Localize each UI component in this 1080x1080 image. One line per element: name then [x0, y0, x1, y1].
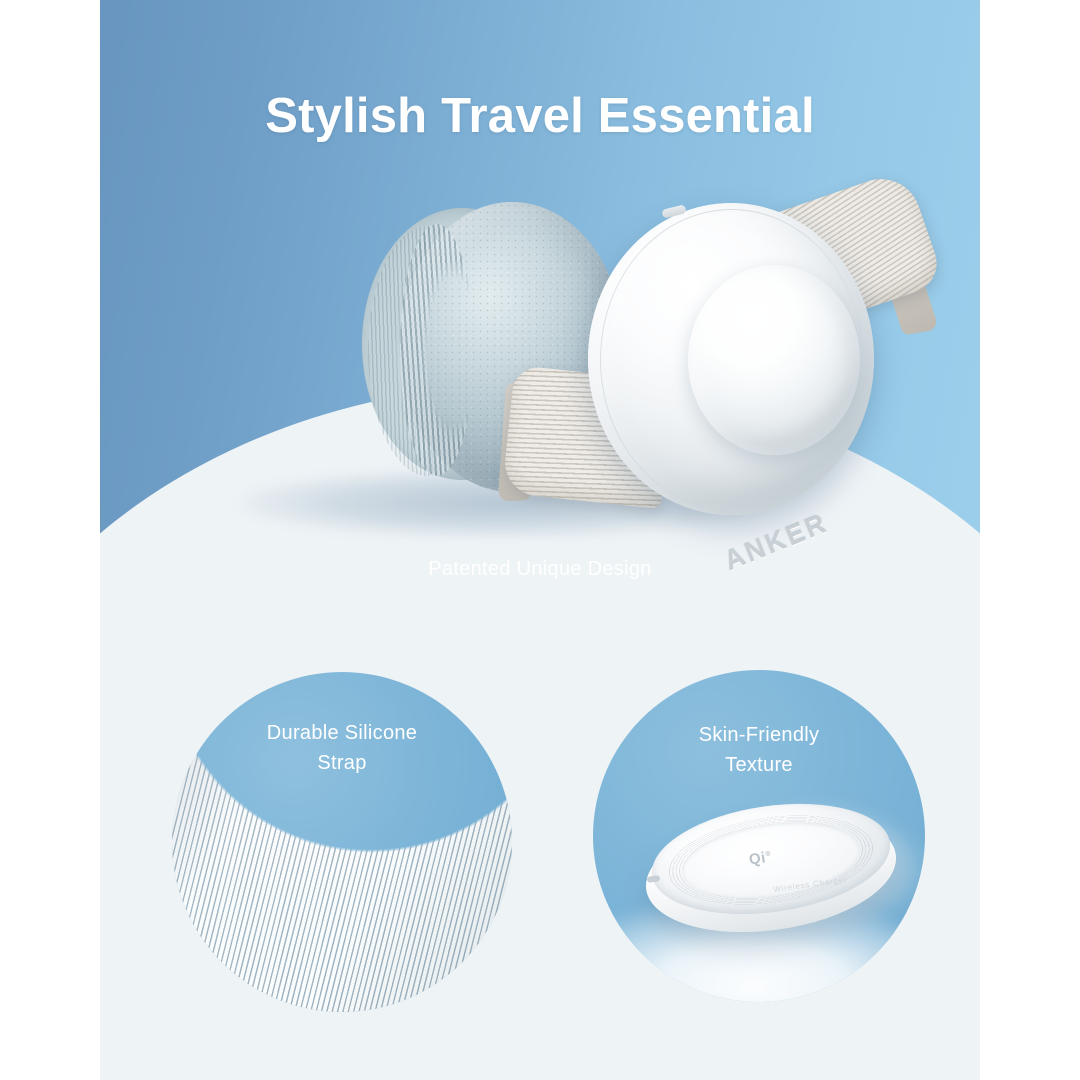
- macaron-front-foot-texture: [400, 224, 474, 476]
- silicone-shading: [172, 678, 512, 1012]
- qi-logo-superscript: ®: [765, 851, 771, 859]
- hero-product-wireless-charger: ANKER: [570, 195, 890, 525]
- feature-label-skin-friendly-texture: Skin-Friendly Texture: [593, 720, 925, 780]
- product-marketing-page: ANKER Stylish Travel Essential Patented …: [0, 0, 1080, 1080]
- feature-label-line-1: Skin-Friendly: [593, 720, 925, 750]
- hero-caption: Patented Unique Design: [100, 558, 980, 581]
- wireless-charging-pad-image: Qi® Wireless Charger: [645, 806, 897, 938]
- feature-label-line-2: Texture: [593, 750, 925, 780]
- feature-card-skin-friendly-texture: Qi® Wireless Charger Skin-Friendly Textu…: [593, 670, 925, 1002]
- silicone-strap-image: [172, 678, 512, 1012]
- feature-card-durable-silicone-strap: Durable Silicone Strap: [172, 672, 512, 1012]
- hero-section: ANKER Stylish Travel Essential Patented …: [100, 0, 980, 610]
- qi-certification-logo: Qi®: [748, 849, 772, 869]
- hero-title: Stylish Travel Essential: [100, 88, 980, 144]
- charger-inner-dome: [688, 265, 860, 455]
